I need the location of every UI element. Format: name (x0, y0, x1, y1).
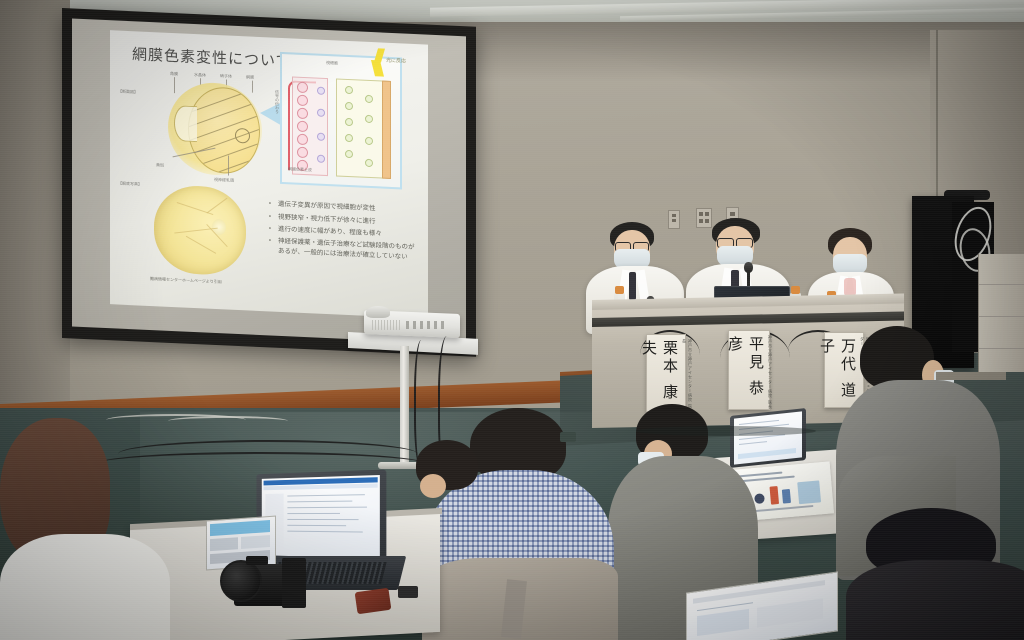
speaker-right-face-mask (833, 254, 867, 274)
speaker-left-necktie (629, 272, 636, 300)
slide-label-rpe: 網膜色素上皮 (288, 166, 312, 173)
fundus-photograph (154, 184, 246, 276)
floor-cable-white-2 (168, 416, 288, 426)
slide-bullet-list: 遺伝子変異が原因で視細胞が変性 視野狭窄・視力低下が徐々に進行 進行の速度に幅が… (268, 197, 420, 263)
nameplate-hirami-title: 神戸市立神戸アイセンター病院 医長 (767, 331, 773, 409)
slide-label-signal-path: 信号の伝わり (274, 90, 280, 114)
floor-object (560, 432, 576, 442)
table-shadow (636, 426, 816, 436)
audience-person-dark (846, 508, 1024, 640)
dslr-camera (216, 556, 312, 614)
slide-label-fundus-tag: 【眼底写真】 (118, 181, 142, 188)
smartphone[interactable] (355, 588, 392, 615)
cornea-shape (174, 105, 197, 142)
projection-screen: 網膜色素変性について 【断面図】 角膜 水晶体 硝子体 網膜 黄斑 (62, 8, 476, 357)
nameplate-kurimoto-title: 神戸市立神戸アイセンター病院 院長 (681, 335, 693, 411)
fovea-marker (235, 128, 250, 144)
white-top (0, 534, 170, 640)
cone-column (336, 78, 384, 178)
projector-ports (406, 321, 446, 329)
slide-label-optic-disc: 視神経乳頭 (214, 177, 234, 184)
rpe-column (382, 81, 391, 179)
left-wall (0, 0, 70, 470)
rod-column (292, 76, 328, 176)
slide-title: 網膜色素変性について (132, 43, 292, 71)
figure-caption: 難病情報センターホームページより引用 (150, 276, 222, 285)
nameplate-hirami: 平見 恭彦 神戸市立神戸アイセンター病院 医長 (728, 330, 770, 410)
press-conference-photo: 網膜色素変性について 【断面図】 角膜 水晶体 硝子体 網膜 黄斑 (0, 0, 1024, 640)
small-accessory (398, 586, 418, 598)
nameplate-hirami-name: 平見 恭彦 (725, 331, 767, 409)
projector-vents (372, 320, 402, 330)
slide-label-cross-section: 【断面図】 (118, 89, 138, 96)
slide-label-light-response: 光に反応 (386, 57, 406, 65)
slide-content: 網膜色素変性について 【断面図】 角膜 水晶体 硝子体 網膜 黄斑 (110, 30, 428, 318)
projector-lens (366, 306, 390, 318)
nameplate-kurimoto: 栗本 康夫 神戸市立神戸アイセンター病院 院長 (646, 334, 686, 412)
slide-label-rod-cone: 視細胞 (326, 60, 338, 67)
nameplate-kurimoto-name: 栗本 康夫 (639, 335, 681, 411)
audience-person-long-hair (0, 418, 170, 640)
slide-label-macula: 黄斑 (156, 162, 164, 168)
light-bolt-icon (372, 48, 386, 79)
cabinet-base (936, 372, 1006, 380)
